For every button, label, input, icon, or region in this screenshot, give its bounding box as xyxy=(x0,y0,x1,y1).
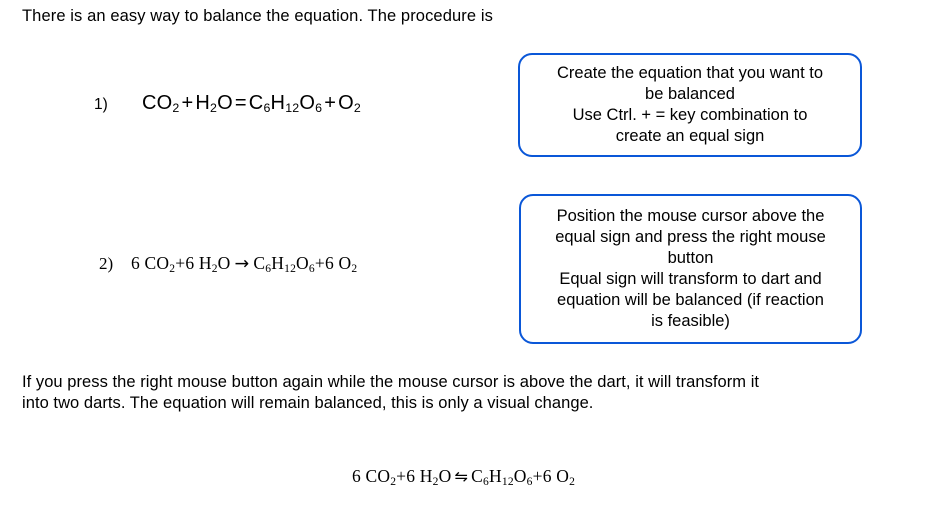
equation-2: 2) 6 CO2+6 H2O→C6H12O6+6 O2 xyxy=(99,253,357,274)
equation-final-product-o-sub: 6 xyxy=(527,476,533,488)
equation-1-plus-1: + xyxy=(180,92,196,114)
equation-2-number: 2) xyxy=(99,254,131,274)
equation-1-reactant-h-sub: 2 xyxy=(210,101,217,115)
equation-2-formula: 6 CO2+6 H2O→C6H12O6+6 O2 xyxy=(131,253,357,274)
equation-final-product-c-sub: 6 xyxy=(483,476,489,488)
equation-2-coeff-1: 6 xyxy=(131,253,140,273)
equation-final-coeff-2: 6 xyxy=(406,466,415,486)
callout-position-line-3: button xyxy=(668,248,714,269)
equation-2-product-c: C xyxy=(253,253,265,273)
equation-final-reactant-h: H xyxy=(420,466,433,486)
equation-final-plus-2: + xyxy=(533,466,543,486)
equation-final-reactant-co: CO xyxy=(365,466,390,486)
equation-1: 1) CO2+H2O=C6H12O6+O2 xyxy=(94,92,361,115)
document-page: There is an easy way to balance the equa… xyxy=(0,0,927,520)
body-paragraph: If you press the right mouse button agai… xyxy=(22,372,912,413)
equation-2-product-o2-sub: 2 xyxy=(351,263,357,275)
equilibrium-arrow-icon: ⇋ xyxy=(451,467,471,486)
equation-2-product-o2: O xyxy=(338,253,351,273)
equation-final-plus-1: + xyxy=(396,466,406,486)
callout-position-line-4: Equal sign will transform to dart and xyxy=(559,269,821,290)
equation-final-product-o: O xyxy=(514,466,527,486)
equation-1-relation: = xyxy=(233,92,249,114)
equation-2-plus-2: + xyxy=(315,253,325,273)
equation-1-reactant-co: CO xyxy=(142,92,172,114)
equation-2-reactant-co: CO xyxy=(145,253,170,273)
equation-final-reactant-h-sub: 2 xyxy=(433,476,439,488)
equation-1-number: 1) xyxy=(94,96,142,114)
equation-1-product-o2-sub: 2 xyxy=(354,101,361,115)
equation-2-coeff-2: 6 xyxy=(185,253,194,273)
equation-2-reactant-h-sub: 2 xyxy=(212,263,218,275)
equation-2-reactant-co-sub: 2 xyxy=(169,263,175,275)
callout-create-line-1: Create the equation that you want to xyxy=(557,63,823,84)
callout-create-line-4: create an equal sign xyxy=(616,126,765,147)
equation-2-product-o-sub: 6 xyxy=(309,263,315,275)
equation-final-formula: 6 CO2+6 H2O⇋C6H12O6+6 O2 xyxy=(352,466,575,486)
equation-2-reactant-o: O xyxy=(218,253,231,273)
callout-position-line-2: equal sign and press the right mouse xyxy=(555,227,826,248)
right-arrow-icon: → xyxy=(231,254,254,274)
equation-2-product-h: H xyxy=(271,253,284,273)
equation-final-product-o2: O xyxy=(556,466,569,486)
equation-1-reactant-h: H xyxy=(195,92,210,114)
equation-1-reactant-co-sub: 2 xyxy=(172,101,179,115)
equation-1-product-o: O xyxy=(299,92,315,114)
equation-2-product-h-sub: 12 xyxy=(284,263,296,275)
callout-position-cursor: Position the mouse cursor above the equa… xyxy=(519,194,862,344)
equation-2-coeff-3: 6 xyxy=(325,253,334,273)
equation-final-product-c: C xyxy=(471,466,483,486)
equation-final-reactant-co-sub: 2 xyxy=(390,476,396,488)
equation-final: 6 CO2+6 H2O⇋C6H12O6+6 O2 xyxy=(0,466,927,487)
equation-1-product-o-sub: 6 xyxy=(315,101,322,115)
callout-create-line-3: Use Ctrl. + = key combination to xyxy=(573,105,808,126)
equation-1-formula: CO2+H2O=C6H12O6+O2 xyxy=(142,92,361,115)
equation-1-product-c-sub: 6 xyxy=(263,101,270,115)
intro-text: There is an easy way to balance the equa… xyxy=(22,6,493,26)
equation-final-product-h: H xyxy=(489,466,502,486)
equation-2-plus-1: + xyxy=(175,253,185,273)
equation-2-product-o: O xyxy=(296,253,309,273)
equation-final-reactant-o: O xyxy=(439,466,452,486)
equation-1-plus-2: + xyxy=(322,92,338,114)
body-paragraph-line-2: into two darts. The equation will remain… xyxy=(22,393,912,414)
equation-2-reactant-h: H xyxy=(199,253,212,273)
equation-1-product-c: C xyxy=(249,92,264,114)
equation-1-product-h: H xyxy=(271,92,286,114)
equation-final-product-o2-sub: 2 xyxy=(569,476,575,488)
callout-create-equation: Create the equation that you want to be … xyxy=(518,53,862,157)
equation-final-coeff-1: 6 xyxy=(352,466,361,486)
equation-final-product-h-sub: 12 xyxy=(502,476,514,488)
callout-position-line-1: Position the mouse cursor above the xyxy=(557,206,825,227)
callout-position-line-6: is feasible) xyxy=(651,311,730,332)
equation-2-product-c-sub: 6 xyxy=(265,263,271,275)
callout-create-line-2: be balanced xyxy=(645,84,735,105)
equation-final-coeff-3: 6 xyxy=(543,466,552,486)
body-paragraph-line-1: If you press the right mouse button agai… xyxy=(22,372,912,393)
equation-1-product-h-sub: 12 xyxy=(285,101,299,115)
equation-1-reactant-o: O xyxy=(217,92,233,114)
equation-1-product-o2: O xyxy=(338,92,354,114)
callout-position-line-5: equation will be balanced (if reaction xyxy=(557,290,824,311)
